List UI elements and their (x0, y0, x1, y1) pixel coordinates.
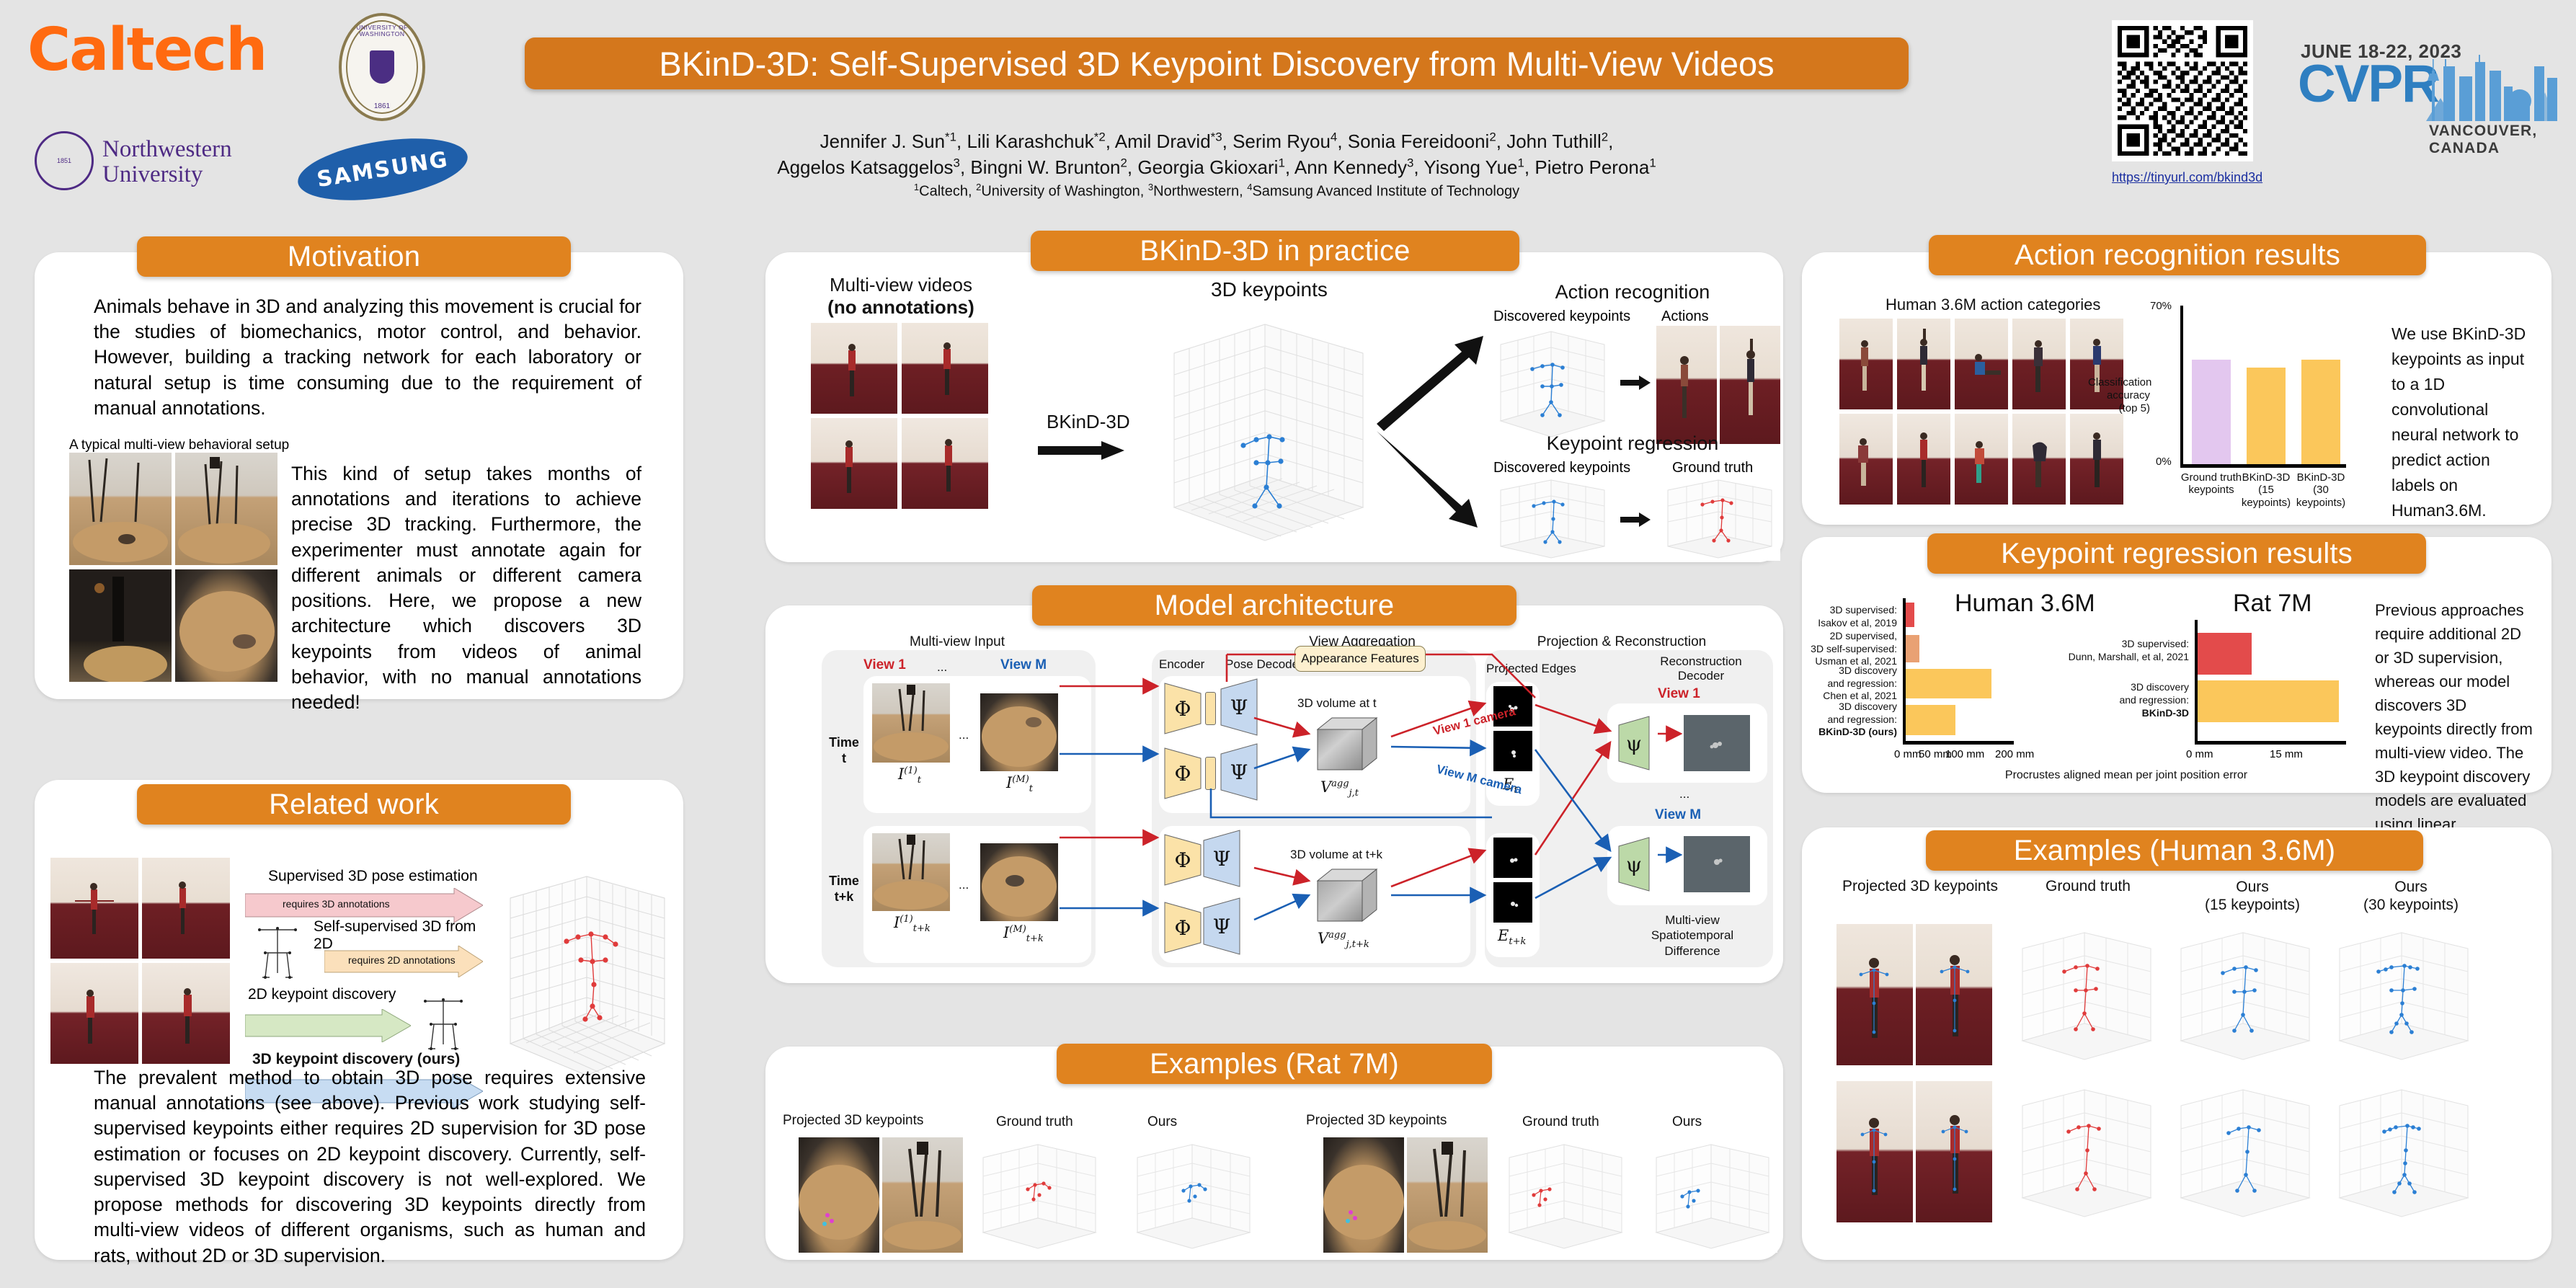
rw-arrow-3-shape (245, 1009, 411, 1042)
practice-photo-1 (811, 323, 897, 414)
poster-header: Caltech UNIVERSITY OF WASHINGTON 1861 18… (0, 0, 2576, 216)
uw-seal-year: 1861 (374, 102, 390, 110)
motivation-paragraph-2: This kind of setup takes months of annot… (291, 461, 641, 715)
human-example-photo-r1b (1916, 924, 1992, 1065)
practice-action-right-label: Actions (1661, 308, 1709, 325)
action-results-paragraph: We use BKinD-3D keypoints as input to a … (2391, 321, 2536, 523)
human-cat-2-line1: 3D discovery (1796, 665, 1897, 678)
examples-rat-col-0: Projected 3D keypoints (783, 1113, 923, 1129)
regression-results-paragraph: Previous approaches require additional 2… (2375, 598, 2535, 860)
action-photo-1 (1839, 319, 1893, 409)
qr-code[interactable] (2112, 20, 2253, 161)
northwestern-logo: Northwestern University (102, 137, 232, 187)
motivation-figure-caption: A typical multi-view behavioral setup (69, 438, 289, 453)
human-example-plot-ours15-r2 (2169, 1081, 2321, 1222)
human-cat-2-line2: and regression: (1796, 678, 1897, 690)
rw-skeleton-icon-2 (418, 991, 468, 1057)
practice-keypoints-label: 3D keypoints (1211, 278, 1328, 301)
northwestern-line1: Northwestern (102, 137, 232, 162)
practice-regression-left-label: Discovered keypoints (1493, 460, 1630, 476)
rw-arrow-3-label: 2D keypoint discovery (248, 986, 396, 1003)
samsung-wordmark: SAMSUNG (315, 146, 450, 192)
human-bar-0 (1906, 603, 1914, 627)
rat-cat-0-line2: Dunn, Marshall, et al, 2021 (2030, 650, 2189, 663)
action-results-figure-caption: Human 3.6M action categories (1886, 296, 2100, 314)
regression-results-header: Keypoint regression results (1927, 533, 2426, 574)
motivation-setup-photos (69, 453, 278, 683)
rw-photo-4 (142, 963, 230, 1064)
rw-photo-2 (142, 858, 230, 959)
uw-logo: UNIVERSITY OF WASHINGTON 1861 (339, 13, 425, 121)
practice-input-label: Multi-view videos (no annotations) (786, 274, 1016, 319)
rw-arrow-2d-discovery: 2D keypoint discovery (245, 987, 418, 1045)
caltech-logo: Caltech (27, 16, 266, 84)
practice-input-line2: (no annotations) (786, 296, 1016, 319)
practice-branch-arrow-up (1369, 332, 1485, 432)
svg-text:View M camera: View M camera (1435, 762, 1524, 796)
qr-code-image (2118, 26, 2247, 156)
rw-arrow-1-sub: requires 3D annotations (283, 898, 390, 910)
related-work-paragraph: The prevalent method to obtain 3D pose r… (94, 1065, 646, 1269)
practice-photo-2 (902, 323, 988, 414)
action-bar-0 (2192, 360, 2231, 464)
human-cat-3-line3: BKinD-3D (ours) (1796, 726, 1897, 739)
rw-arrow-2-sub: requires 2D annotations (348, 954, 456, 966)
action-results-photo-grid (1839, 319, 2125, 505)
author-line-2: Aggelos Katsaggelos3, Bingni W. Brunton2… (525, 154, 1909, 182)
human-cat-2: 3D discovery and regression: Chen et al,… (1796, 665, 1897, 703)
human-example-photo-r1a (1836, 924, 1913, 1065)
action-photo-9 (2012, 414, 2066, 505)
affiliations: 1Caltech, 2University of Washington, 3No… (525, 182, 1909, 200)
action-photo-8 (1955, 414, 2008, 505)
examples-human-col-2-line1: Ours (2184, 878, 2321, 896)
human-xtick-3: 200 mm (1995, 748, 2034, 760)
poster-title: BKinD-3D: Self-Supervised 3D Keypoint Di… (525, 37, 1909, 89)
northwestern-seal-year: 1851 (57, 157, 71, 164)
human-bar-3 (1906, 705, 1955, 735)
examples-human-col-3-line2: (30 keypoints) (2342, 896, 2479, 914)
motivation-header: Motivation (137, 236, 571, 277)
practice-photo-3 (811, 418, 897, 509)
rw-3d-plot (497, 865, 678, 1081)
rw-skeleton-icon-1 (252, 921, 303, 986)
motivation-paragraph-1: Animals behave in 3D and analyzing this … (94, 294, 641, 421)
examples-rat-plot-ours-1 (1129, 1137, 1258, 1253)
human-bar-2 (1906, 669, 1991, 698)
practice-regression-right-label: Ground truth (1672, 460, 1753, 476)
practice-model-label: BKinD-3D (1047, 411, 1130, 433)
examples-rat-plot-gt-1 (974, 1137, 1104, 1253)
samsung-logo: SAMSUNG (293, 128, 471, 210)
uw-shield-icon (370, 50, 394, 84)
chart-ylabel-line1: Classification (2088, 376, 2150, 389)
examples-rat-col-3: Projected 3D keypoints (1306, 1113, 1447, 1129)
chart-ytick-bottom: 0% (2156, 456, 2172, 468)
action-xtick-2-line2: (30 keypoints) (2287, 484, 2355, 509)
human-example-plot-gt-r2 (2011, 1081, 2162, 1222)
action-bar-2 (2301, 360, 2340, 464)
rw-arrow-1-label: Supervised 3D pose estimation (268, 868, 478, 885)
rat-bar-0 (2198, 633, 2252, 675)
examples-human-col-2-line2: (15 keypoints) (2184, 896, 2321, 914)
human-xtick-0: 0 mm (1894, 748, 1922, 760)
setup-photo-2 (175, 453, 277, 565)
setup-photo-4 (175, 569, 277, 682)
practice-action-plot (1491, 326, 1613, 441)
practice-regression-plot-pred (1491, 476, 1613, 561)
examples-rat-header: Examples (Rat 7M) (1057, 1044, 1492, 1084)
arch-connection-arrows: View 1 camera View M camera (822, 641, 1780, 973)
examples-rat-photo-1a (799, 1137, 879, 1253)
qr-link[interactable]: https://tinyurl.com/bkind3d (2112, 170, 2262, 185)
human-example-photo-r2a (1836, 1081, 1913, 1222)
rat-bar-1 (2198, 680, 2339, 722)
human-example-photo-r2b (1916, 1081, 1992, 1222)
action-photo-4 (2012, 319, 2066, 409)
action-photo-6 (1839, 414, 1893, 505)
human-cat-3-line2: and regression: (1796, 714, 1897, 727)
rw-photo-1 (50, 858, 138, 959)
human-example-plot-ours30-r1 (2328, 924, 2479, 1065)
action-recognition-chart: 70% 0% Classification accuracy (top 5) G… (2151, 303, 2360, 512)
regression-rat-title: Rat 7M (2233, 590, 2312, 618)
setup-photo-3 (69, 569, 172, 682)
rat7m-regression-chart: 3D supervised: Dunn, Marshall, et al, 20… (2195, 620, 2375, 760)
cvpr-logo: JUNE 18-22, 2023 CVPR VANCOUVER, CANADA (2298, 37, 2557, 153)
action-xtick-2: BKinD-3D (30 keypoints) (2287, 471, 2355, 509)
human-cat-0: 3D supervised: Isakov et al, 2019 (1796, 604, 1897, 629)
practice-action-photo-2 (1720, 326, 1780, 444)
practice-regression-title: Keypoint regression (1506, 432, 1759, 455)
human-cat-1-line1: 2D supervised, (1796, 630, 1897, 643)
examples-human-col-2: Ours (15 keypoints) (2184, 878, 2321, 914)
human36m-regression-chart: 3D supervised: Isakov et al, 2019 2D sup… (1903, 598, 2126, 757)
regression-xlabel: Procrustes aligned mean per joint positi… (1917, 769, 2335, 782)
action-photo-10 (2070, 414, 2123, 505)
practice-input-line1: Multi-view videos (786, 274, 1016, 296)
architecture-header: Model architecture (1032, 585, 1516, 626)
action-bar-1 (2247, 368, 2286, 464)
practice-regression-small-arrow (1620, 512, 1651, 528)
practice-3d-plot (1150, 310, 1380, 548)
human-example-plot-gt-r1 (2011, 924, 2162, 1065)
rat-cat-1: 3D discovery and regression: BKinD-3D (2030, 680, 2189, 720)
setup-photo-1 (69, 453, 172, 565)
action-photo-3 (1955, 319, 2008, 409)
author-line-1: Jennifer J. Sun*1, Lili Karashchuk*2, Am… (525, 128, 1909, 156)
chart-ytick-top: 70% (2150, 300, 2172, 312)
examples-human-col-3-line1: Ours (2342, 878, 2479, 896)
action-photo-7 (1897, 414, 1950, 505)
practice-action-title: Action recognition (1506, 281, 1759, 303)
rat-chart-x-axis (2195, 741, 2346, 745)
examples-rat-plot-ours-2 (1648, 1137, 1777, 1253)
rat-cat-1-line2: and regression: (2030, 693, 2189, 706)
human-cat-3: 3D discovery and regression: BKinD-3D (o… (1796, 701, 1897, 739)
rat-xtick-1: 15 mm (2270, 748, 2303, 760)
practice-branch-arrow-down (1369, 425, 1485, 533)
human-cat-0-line1: 3D supervised: (1796, 604, 1897, 617)
examples-rat-plot-gt-2 (1501, 1137, 1630, 1253)
examples-rat-photo-2b (1407, 1137, 1488, 1253)
examples-human-col-0: Projected 3D keypoints (1842, 878, 1998, 895)
rat-cat-1-line3: BKinD-3D (2030, 706, 2189, 719)
cvpr-city: VANCOUVER, CANADA (2429, 123, 2557, 157)
human-chart-x-axis (1903, 741, 2014, 745)
examples-human-col-3: Ours (30 keypoints) (2342, 878, 2479, 914)
practice-regression-plot-gt (1658, 476, 1780, 561)
practice-action-photos (1656, 326, 1780, 444)
examples-rat-col-5: Ours (1672, 1114, 1702, 1130)
chart-ylabel: Classification accuracy (top 5) (2088, 376, 2150, 415)
human-cat-1-line2: 3D self-supervised: (1796, 643, 1897, 656)
practice-input-photos (811, 323, 991, 510)
examples-human-col-1: Ground truth (2046, 878, 2131, 895)
chart-y-axis (2180, 306, 2183, 467)
svg-text:View 1 camera: View 1 camera (1431, 704, 1517, 738)
chart-ylabel-line2: accuracy (2088, 389, 2150, 402)
practice-main-arrow (1038, 440, 1124, 461)
uw-seal-top-text: UNIVERSITY OF WASHINGTON (346, 25, 418, 37)
action-xtick-2-line1: BKinD-3D (2287, 471, 2355, 484)
examples-rat-col-2: Ours (1147, 1114, 1177, 1130)
rat-cat-0-line1: 3D supervised: (2030, 637, 2189, 650)
related-work-photos (50, 858, 232, 1067)
human-cat-1: 2D supervised, 3D self-supervised: Usman… (1796, 630, 1897, 668)
chart-x-axis (2180, 464, 2346, 468)
human-cat-3-line1: 3D discovery (1796, 701, 1897, 714)
cvpr-wordmark: CVPR (2298, 62, 2438, 107)
action-results-header: Action recognition results (1929, 235, 2426, 275)
rw-arrow-selfsup-3d: Self-supervised 3D from 2D requires 2D a… (292, 914, 483, 979)
rat-cat-1-line1: 3D discovery (2030, 680, 2189, 693)
human-example-plot-ours15-r1 (2169, 924, 2321, 1065)
chart-ylabel-line3: (top 5) (2088, 402, 2150, 415)
northwestern-seal-icon: 1851 (35, 131, 94, 190)
rat-xtick-0: 0 mm (2186, 748, 2213, 760)
human-cat-0-line2: Isakov et al, 2019 (1796, 617, 1897, 630)
human-xtick-2: 100 mm (1945, 748, 1984, 760)
northwestern-line2: University (102, 162, 232, 187)
action-photo-2 (1897, 319, 1950, 409)
examples-rat-photo-1b (882, 1137, 963, 1253)
practice-header: BKinD-3D in practice (1031, 231, 1519, 271)
examples-rat-col-1: Ground truth (996, 1114, 1073, 1130)
human-example-plot-ours30-r2 (2328, 1081, 2479, 1222)
practice-action-photo-1 (1656, 326, 1717, 444)
human-bar-1 (1906, 635, 1919, 662)
practice-action-left-label: Discovered keypoints (1493, 308, 1630, 325)
examples-human-header: Examples (Human 3.6M) (1926, 830, 2423, 871)
rat-cat-0: 3D supervised: Dunn, Marshall, et al, 20… (2030, 637, 2189, 663)
related-work-header: Related work (137, 784, 571, 825)
practice-photo-4 (902, 418, 988, 509)
practice-action-small-arrow (1620, 375, 1651, 391)
examples-rat-col-4: Ground truth (1522, 1114, 1599, 1130)
rw-photo-3 (50, 963, 138, 1064)
examples-rat-photo-2a (1323, 1137, 1404, 1253)
vancouver-skyline-icon (2426, 53, 2560, 121)
